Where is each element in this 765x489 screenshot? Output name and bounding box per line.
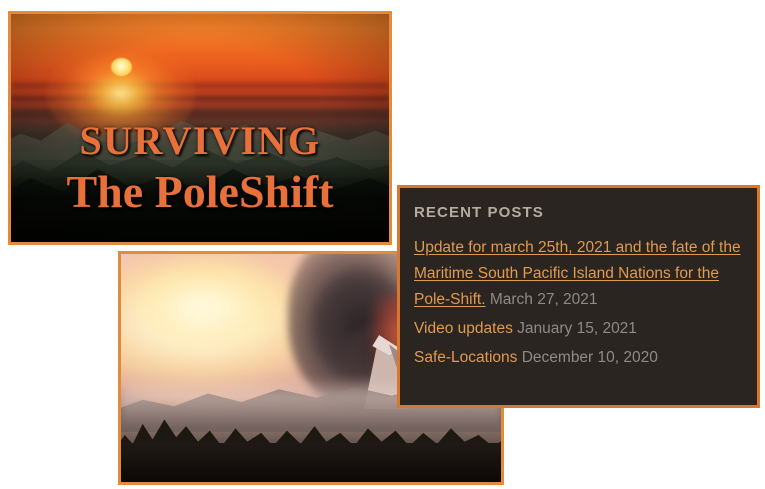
site-banner[interactable]: SURVIVING The PoleShift <box>8 11 392 245</box>
widget-title: RECENT POSTS <box>414 204 757 221</box>
banner-title: SURVIVING The PoleShift <box>11 121 389 215</box>
post-date: December 10, 2020 <box>522 349 658 366</box>
post-link[interactable]: Video updates <box>414 320 513 337</box>
list-item: Video updates January 15, 2021 <box>414 316 747 342</box>
list-item: Safe-Locations December 10, 2020 <box>414 345 747 371</box>
recent-posts-widget: RECENT POSTS Update for march 25th, 2021… <box>397 185 760 408</box>
recent-posts-list: Update for march 25th, 2021 and the fate… <box>400 235 757 371</box>
list-item: Update for march 25th, 2021 and the fate… <box>414 235 747 313</box>
post-link[interactable]: Safe-Locations <box>414 349 517 366</box>
foreground-ground <box>121 443 501 482</box>
banner-title-line1: SURVIVING <box>11 121 389 161</box>
post-date: January 15, 2021 <box>517 320 637 337</box>
banner-title-line2: The PoleShift <box>11 169 389 215</box>
banner-image: SURVIVING The PoleShift <box>11 14 389 242</box>
bright-steam-plume-core <box>136 259 288 355</box>
post-date: March 27, 2021 <box>490 291 598 308</box>
